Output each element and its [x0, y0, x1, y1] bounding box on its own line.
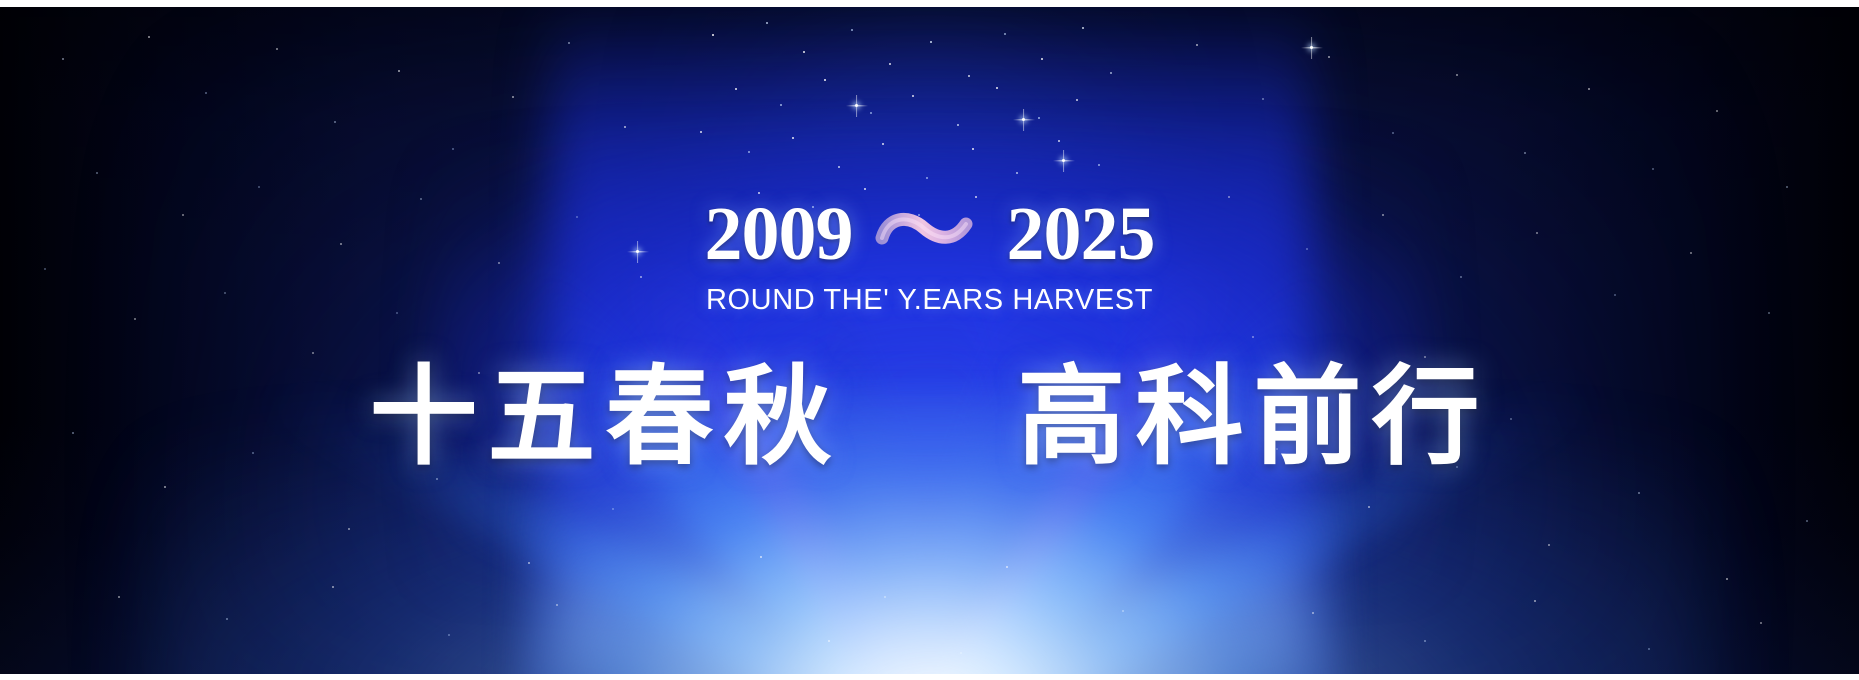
banner-content: 2009 2025 — [0, 0, 1859, 680]
headline-phrase-right: 高科前行 — [1018, 361, 1490, 474]
letterbox-bottom — [0, 674, 1859, 680]
english-subtitle: ROUND THE' Y.EARS HARVEST — [706, 284, 1153, 317]
headline-phrase-left: 十五春秋 — [369, 361, 841, 474]
year-range: 2009 2025 — [705, 196, 1155, 272]
letterbox-top — [0, 0, 1859, 7]
year-start: 2009 — [705, 196, 853, 272]
tilde-separator-icon — [875, 204, 985, 264]
chinese-headline: 十五春秋 高科前行 — [369, 361, 1489, 474]
anniversary-banner: 2009 2025 — [0, 0, 1859, 680]
year-end: 2025 — [1007, 196, 1155, 272]
